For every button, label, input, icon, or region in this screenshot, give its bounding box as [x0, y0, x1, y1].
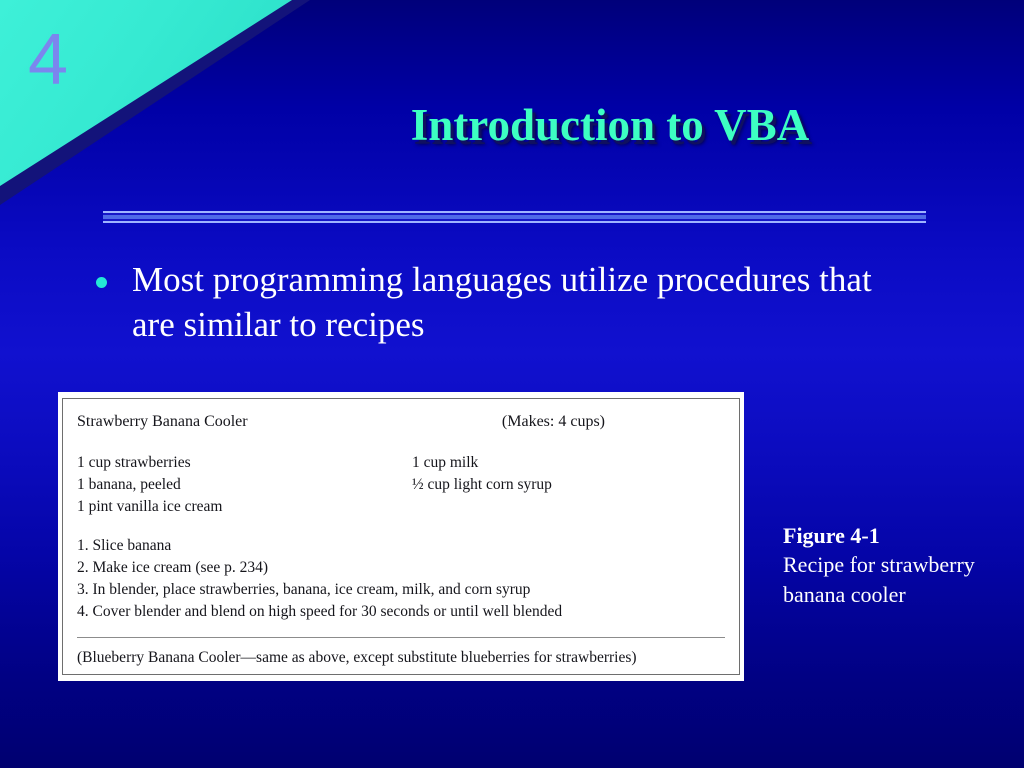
recipe-ingredients: 1 cup strawberries 1 banana, peeled 1 pi…	[77, 452, 725, 518]
bullet-list-item: Most programming languages utilize proce…	[96, 258, 876, 348]
ingredient-item: 1 cup milk	[412, 452, 552, 474]
recipe-panel: Strawberry Banana Cooler (Makes: 4 cups)…	[62, 398, 740, 675]
recipe-divider	[77, 637, 725, 638]
bullet-text: Most programming languages utilize proce…	[132, 258, 876, 348]
recipe-yield: (Makes: 4 cups)	[502, 411, 725, 434]
slide-title: Introduction to VBA	[300, 102, 920, 149]
ingredients-column-2: 1 cup milk ½ cup light corn syrup	[412, 452, 552, 518]
slide: 4 Introduction to VBA Most programming l…	[0, 0, 1024, 768]
title-divider	[103, 211, 926, 224]
chapter-number: 4	[28, 24, 68, 96]
recipe-step: 1. Slice banana	[77, 535, 725, 557]
divider-line-5	[103, 221, 926, 223]
recipe-header: Strawberry Banana Cooler (Makes: 4 cups)	[77, 411, 725, 434]
recipe-steps: 1. Slice banana 2. Make ice cream (see p…	[77, 535, 725, 623]
ingredient-item: ½ cup light corn syrup	[412, 474, 552, 496]
ingredient-item: 1 pint vanilla ice cream	[77, 496, 412, 518]
figure-caption: Figure 4-1 Recipe for strawberry banana …	[783, 521, 1015, 609]
bullet-dot-icon	[96, 277, 107, 288]
recipe-step: 4. Cover blender and blend on high speed…	[77, 601, 725, 623]
ingredient-item: 1 cup strawberries	[77, 452, 412, 474]
recipe-figure: Strawberry Banana Cooler (Makes: 4 cups)…	[58, 392, 744, 681]
figure-caption-text: Recipe for strawberry banana cooler	[783, 550, 1015, 609]
recipe-variation-note: (Blueberry Banana Cooler—same as above, …	[77, 647, 725, 669]
recipe-step: 3. In blender, place strawberries, banan…	[77, 579, 725, 601]
figure-caption-label: Figure 4-1	[783, 521, 1015, 550]
recipe-title: Strawberry Banana Cooler	[77, 411, 248, 434]
ingredients-column-1: 1 cup strawberries 1 banana, peeled 1 pi…	[77, 452, 412, 518]
ingredient-item: 1 banana, peeled	[77, 474, 412, 496]
recipe-step: 2. Make ice cream (see p. 234)	[77, 557, 725, 579]
